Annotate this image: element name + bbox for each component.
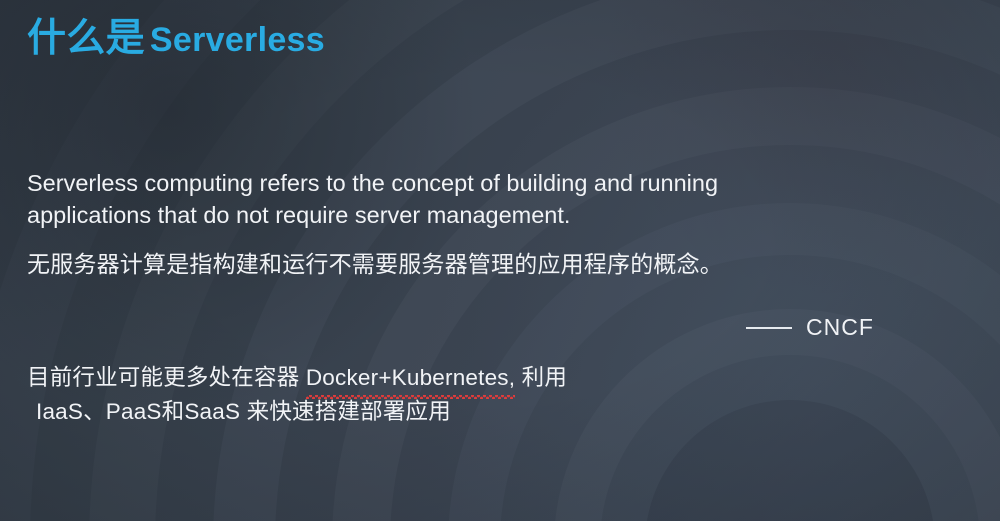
presentation-slide: 什么是Serverless Serverless computing refer… bbox=[0, 0, 1000, 521]
note-chinese-prefix: 目前行业可能更多处在容器 bbox=[27, 365, 306, 390]
attribution: CNCF bbox=[746, 314, 874, 341]
definition-chinese: 无服务器计算是指构建和运行不需要服务器管理的应用程序的概念。 bbox=[27, 249, 723, 280]
slide-title-english: Serverless bbox=[150, 21, 325, 59]
note-chinese-suffix: 利用 bbox=[515, 365, 567, 390]
definition-english-line-1: Serverless computing refers to the conce… bbox=[27, 168, 867, 200]
slide-content: 什么是Serverless Serverless computing refer… bbox=[0, 0, 1000, 521]
attribution-dash-icon bbox=[746, 327, 792, 329]
slide-title: 什么是Serverless bbox=[27, 17, 325, 62]
slide-title-chinese: 什么是 bbox=[27, 17, 145, 60]
definition-english: Serverless computing refers to the conce… bbox=[27, 168, 867, 231]
note-chinese-line-2: IaaS、PaaS和SaaS 来快速搭建部署应用 bbox=[27, 396, 567, 429]
note-chinese: 目前行业可能更多处在容器 Docker+Kubernetes, 利用 IaaS、… bbox=[27, 362, 567, 428]
note-chinese-line-1: 目前行业可能更多处在容器 Docker+Kubernetes, 利用 bbox=[27, 362, 567, 396]
definition-english-line-2: applications that do not require server … bbox=[27, 200, 867, 232]
note-chinese-term-spellchecked: Docker+Kubernetes, bbox=[306, 362, 515, 396]
attribution-source: CNCF bbox=[806, 314, 874, 341]
